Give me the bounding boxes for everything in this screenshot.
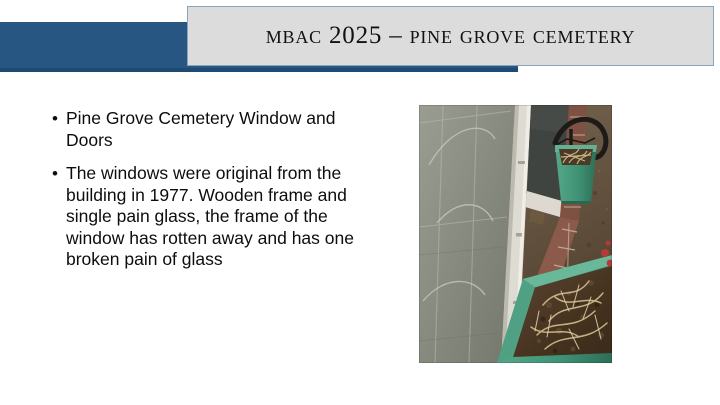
bullet-dot-icon: •	[52, 108, 66, 130]
title-box: MBAC 2025 – Pine Grove Cemetery	[187, 6, 714, 66]
slide-canvas: MBAC 2025 – Pine Grove Cemetery • Pine G…	[0, 0, 720, 405]
bullet-text: The windows were original from the build…	[66, 163, 372, 271]
window-photo	[419, 105, 612, 363]
window-photo-illustration	[419, 105, 612, 363]
list-item: • The windows were original from the bui…	[52, 163, 372, 271]
page-title: MBAC 2025 – Pine Grove Cemetery	[188, 7, 713, 65]
header-accent-band-shadow	[0, 68, 518, 72]
list-item: • Pine Grove Cemetery Window and Doors	[52, 108, 372, 151]
bullet-dot-icon: •	[52, 163, 66, 185]
bullet-list: • Pine Grove Cemetery Window and Doors •…	[52, 108, 372, 271]
bullet-text: Pine Grove Cemetery Window and Doors	[66, 108, 372, 151]
